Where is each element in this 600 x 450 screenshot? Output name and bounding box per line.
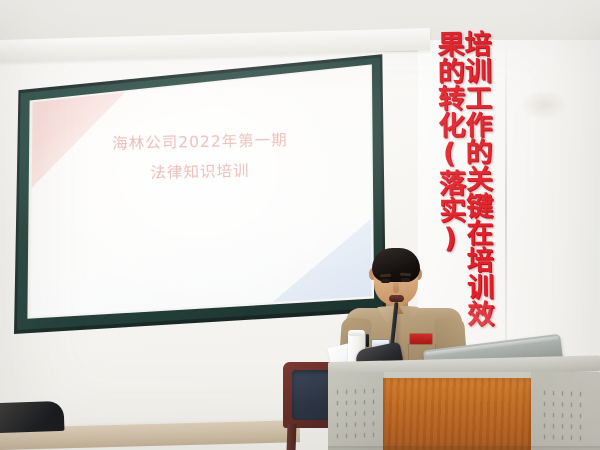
wall-corner-edge: [505, 40, 507, 370]
projector-glow: [44, 69, 364, 312]
projection-screen: 海林公司2022年第一期 法律知识培训: [14, 52, 386, 334]
chair-leg-left: [287, 424, 297, 450]
lectern: [328, 368, 600, 450]
wall-smudge: [520, 90, 568, 120]
nose: [393, 282, 399, 293]
eye-right: [401, 278, 410, 282]
speaker-grille-left: [333, 385, 381, 441]
lectern-shadow: [328, 446, 600, 450]
foreground-dark-object: [0, 401, 65, 433]
lectern-wood-front-panel: [383, 378, 531, 450]
hair: [372, 248, 420, 282]
eye-left: [381, 279, 390, 283]
mouth: [389, 295, 404, 302]
slide-text-block: 海林公司2022年第一期 法律知识培训: [14, 128, 386, 187]
photo-scene: 海林公司2022年第一期 法律知识培训 培训工作的关键在培训效果的转化(落实): [0, 0, 600, 450]
speaker-grille-right: [540, 387, 588, 443]
